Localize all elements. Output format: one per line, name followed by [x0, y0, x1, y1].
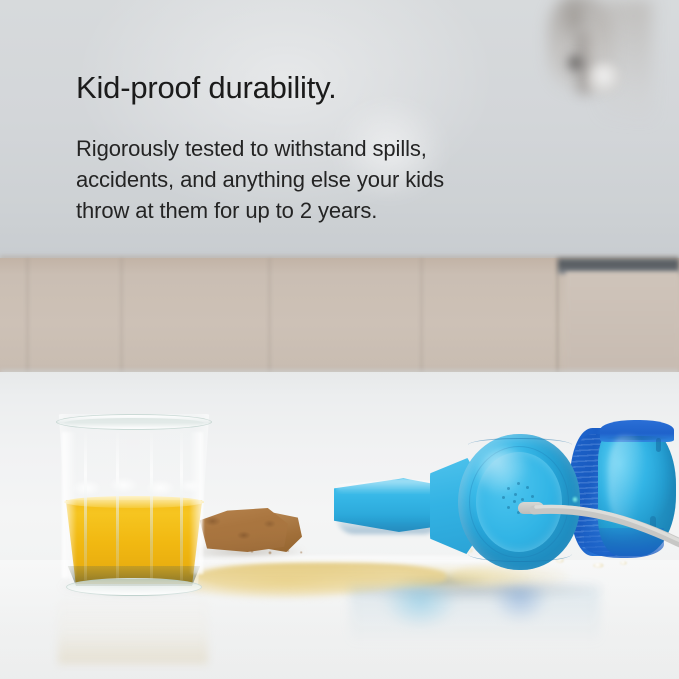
- cabinet-seam: [120, 258, 123, 378]
- body-copy: Rigorously tested to withstand spills, a…: [76, 133, 546, 227]
- faucet-handle: [588, 62, 622, 96]
- headphones-reflection: [350, 586, 600, 664]
- glass-right-highlight: [190, 432, 203, 574]
- product-lifestyle-photo: Kid-proof durability. Rigorously tested …: [0, 0, 679, 679]
- cabinet-seam: [420, 258, 423, 378]
- right-cabinet-panel: [566, 272, 679, 378]
- glass-reflection: [58, 592, 208, 664]
- glass-rim-inner: [64, 418, 204, 428]
- body-line-1: Rigorously tested to withstand spills,: [76, 133, 546, 164]
- glass-facet: [150, 430, 153, 580]
- cable-jack: [518, 502, 544, 514]
- glass-left-highlight: [62, 432, 76, 578]
- cabinet-seam: [556, 258, 559, 376]
- right-earcup-highlight: [608, 436, 646, 524]
- cabinet-seam: [268, 258, 271, 378]
- body-line-3: throw at them for up to 2 years.: [76, 195, 546, 226]
- marketing-copy-block: Kid-proof durability. Rigorously tested …: [76, 70, 546, 226]
- toast-crumbs: [246, 548, 306, 556]
- headband-highlight: [336, 478, 444, 494]
- right-earcup-notch: [656, 438, 661, 452]
- status-led-icon: [572, 496, 578, 503]
- blue-headphones: [332, 420, 642, 595]
- glass-facet: [180, 430, 183, 580]
- page-title: Kid-proof durability.: [76, 70, 546, 107]
- faucet-shadow: [564, 52, 586, 74]
- glass-facet: [84, 430, 87, 580]
- glass-base: [66, 578, 202, 596]
- body-line-2: accidents, and anything else your kids: [76, 164, 546, 195]
- right-earcup-bottom-trim: [584, 528, 664, 558]
- headband-shadow: [336, 516, 442, 534]
- cabinet-seam: [26, 258, 29, 378]
- glass-facet: [116, 430, 119, 580]
- juice-glass: [54, 414, 214, 594]
